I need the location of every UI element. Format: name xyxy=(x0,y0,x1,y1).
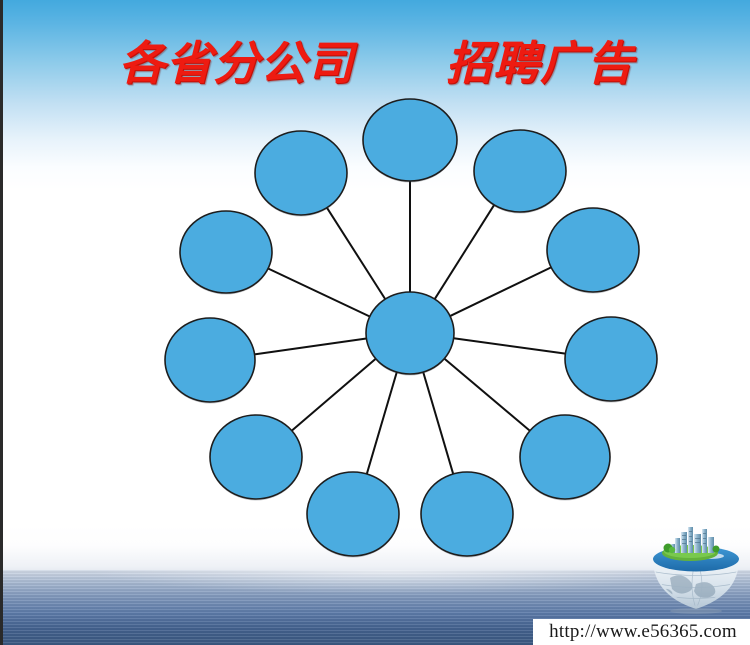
slide-canvas: 各省分公司招聘广告 xyxy=(0,0,750,645)
spoke-line-node-4 xyxy=(454,338,566,353)
diagram-node-8[interactable] xyxy=(210,415,302,499)
globe-shadow xyxy=(670,608,722,614)
spoke-line-node-7 xyxy=(367,372,397,474)
spoke-line-node-11 xyxy=(327,208,385,299)
spoke-line-node-6 xyxy=(423,372,453,474)
website-url-label: http://www.e56365.com xyxy=(533,619,750,645)
spoke-line-node-9 xyxy=(255,338,367,354)
spoke-line-node-10 xyxy=(268,269,370,317)
diagram-node-6[interactable] xyxy=(421,472,513,556)
diagram-node-11[interactable] xyxy=(255,131,347,215)
diagram-node-7[interactable] xyxy=(307,472,399,556)
diagram-node-5[interactable] xyxy=(520,415,610,499)
spoke-line-node-3 xyxy=(450,267,551,316)
earth-city-globe-icon xyxy=(648,526,744,614)
diagram-node-9[interactable] xyxy=(165,318,255,402)
spoke-line-node-5 xyxy=(444,359,530,431)
diagram-node-2[interactable] xyxy=(474,130,566,212)
diagram-node-10[interactable] xyxy=(180,211,272,293)
diagram-hub-node[interactable] xyxy=(366,292,454,374)
spoke-line-node-8 xyxy=(292,359,376,431)
hub-and-spoke-diagram xyxy=(3,0,750,645)
diagram-node-1[interactable] xyxy=(363,99,457,181)
node-circle-group xyxy=(165,99,657,558)
spoke-line-node-2 xyxy=(435,205,494,299)
diagram-node-4[interactable] xyxy=(565,317,657,401)
diagram-node-3[interactable] xyxy=(547,208,639,292)
